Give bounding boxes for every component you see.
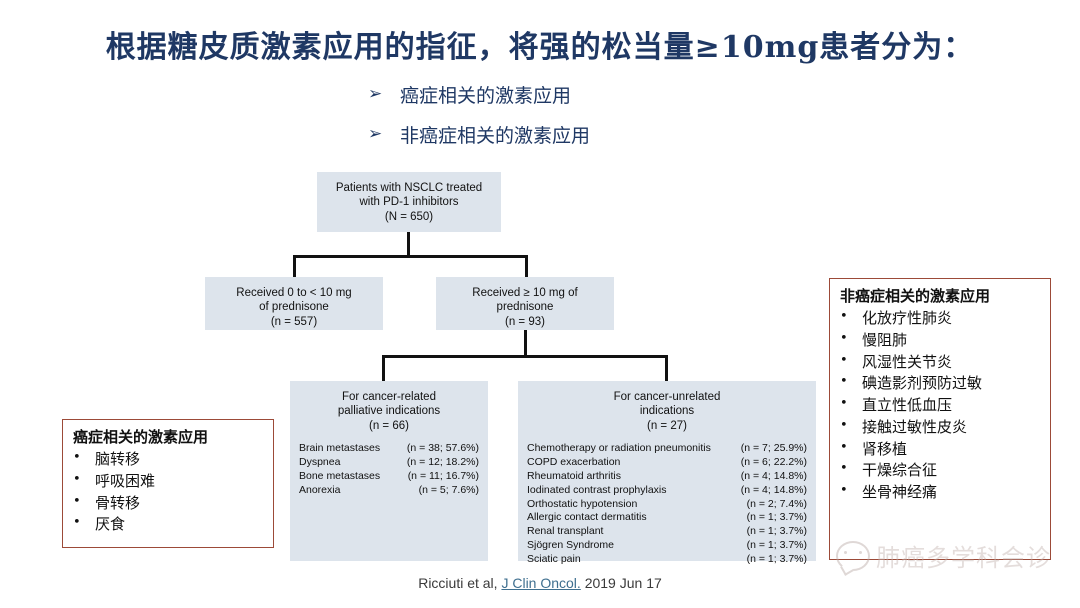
callout-cancer-related-heading: 癌症相关的激素应用 [73, 426, 263, 447]
indication-row: Iodinated contrast prophylaxis (n = 4; 1… [527, 484, 807, 498]
indication-row: Anorexia (n = 5; 7.6%) [299, 484, 479, 498]
indication-row: Chemotherapy or radiation pneumonitis (n… [527, 442, 807, 456]
list-item: •干燥综合征 [840, 460, 1040, 482]
list-item-label: 化放疗性肺炎 [862, 308, 952, 330]
bullet-dot-icon: • [73, 449, 95, 468]
list-item-label: 碘造影剂预防过敏 [862, 373, 982, 395]
bullet-dot-icon: • [840, 330, 862, 349]
list-item-label: 慢阻肺 [862, 330, 907, 352]
list-item: •风湿性关节炎 [840, 352, 1040, 374]
citation-authors: Ricciuti et al, [418, 575, 501, 591]
cancer-unrelated-indication-rows: Chemotherapy or radiation pneumonitis (n… [518, 442, 816, 567]
node-line: indications [518, 404, 816, 418]
indication-value: (n = 7; 25.9%) [741, 442, 807, 456]
indication-row: Orthostatic hypotension (n = 2; 7.4%) [527, 498, 807, 512]
indication-value: (n = 12; 18.2%) [407, 456, 479, 470]
flowchart-node-root-text: Patients with NSCLC treated with PD-1 in… [317, 172, 501, 224]
indication-label: Allergic contact dermatitis [527, 511, 655, 525]
list-item: •肾移植 [840, 439, 1040, 461]
list-item: •骨转移 [73, 493, 263, 515]
node-line: For cancer-related [290, 390, 488, 404]
flowchart-node-cancer-unrelated: For cancer-unrelated indications (n = 27… [518, 381, 816, 561]
indication-value: (n = 4; 14.8%) [741, 484, 807, 498]
flowchart-node-low-dose: Received 0 to < 10 mg of prednisone (n =… [205, 277, 383, 330]
bullet-dot-icon: • [840, 417, 862, 436]
indication-row: Dyspnea (n = 12; 18.2%) [299, 456, 479, 470]
list-item-label: 骨转移 [95, 493, 140, 515]
connector-root-down [407, 232, 410, 257]
connector-level3-bus [382, 355, 668, 358]
bullet-dot-icon: • [840, 460, 862, 479]
indication-label: Iodinated contrast prophylaxis [527, 484, 675, 498]
node-line: (n = 93) [436, 315, 614, 329]
indication-row: Rheumatoid arthritis (n = 4; 14.8%) [527, 470, 807, 484]
list-item-label: 干燥综合征 [862, 460, 937, 482]
indication-row: Sciatic pain (n = 1; 3.7%) [527, 553, 807, 567]
arrow-bullet-icon: ➢ [368, 126, 396, 143]
flowchart-node-high-dose-text: Received ≥ 10 mg of prednisone (n = 93) [436, 277, 614, 329]
connector-level2-right-down [525, 255, 528, 277]
node-line: (n = 557) [205, 315, 383, 329]
flowchart-node-cancer-related: For cancer-related palliative indication… [290, 381, 488, 561]
list-item: •坐骨神经痛 [840, 482, 1040, 504]
indication-value: (n = 4; 14.8%) [741, 470, 807, 484]
bullet-dot-icon: • [840, 482, 862, 501]
list-item-label: 厌食 [95, 514, 125, 536]
callout-cancer-related: 癌症相关的激素应用 •脑转移 •呼吸困难 •骨转移 •厌食 [62, 419, 274, 548]
indication-value: (n = 2; 7.4%) [747, 498, 807, 512]
indication-label: Chemotherapy or radiation pneumonitis [527, 442, 719, 456]
connector-high-dose-down [524, 330, 527, 357]
indication-row: Brain metastases (n = 38; 57.6%) [299, 442, 479, 456]
indication-row: Allergic contact dermatitis (n = 1; 3.7%… [527, 511, 807, 525]
indication-value: (n = 1; 3.7%) [747, 553, 807, 567]
page-title: 根据糖皮质激素应用的指征，将强的松当量≥10mg患者分为： [0, 22, 1080, 66]
node-line: Received 0 to < 10 mg [205, 286, 383, 300]
indication-label: Dyspnea [299, 456, 348, 470]
indication-row: Sjögren Syndrome (n = 1; 3.7%) [527, 539, 807, 553]
bubble-eyes [844, 551, 862, 554]
callout-non-cancer-related: 非癌症相关的激素应用 •化放疗性肺炎 •慢阻肺 •风湿性关节炎 •碘造影剂预防过… [829, 278, 1051, 560]
list-item: •接触过敏性皮炎 [840, 417, 1040, 439]
list-item-label: 坐骨神经痛 [862, 482, 937, 504]
list-item-label: 接触过敏性皮炎 [862, 417, 967, 439]
indication-label: Sciatic pain [527, 553, 589, 567]
node-line: (n = 27) [518, 419, 816, 433]
list-item-label: 风湿性关节炎 [862, 352, 952, 374]
indication-label: Sjögren Syndrome [527, 539, 622, 553]
indication-value: (n = 1; 3.7%) [747, 539, 807, 553]
watermark-text: 肺癌多学科会诊 [876, 538, 1051, 573]
connector-level3-left-down [382, 355, 385, 381]
list-item: •慢阻肺 [840, 330, 1040, 352]
node-line: prednisone [436, 300, 614, 314]
watermark: 肺癌多学科会诊 [836, 538, 1051, 573]
bullet-dot-icon: • [73, 471, 95, 490]
callout-cancer-related-list: •脑转移 •呼吸困难 •骨转移 •厌食 [73, 449, 263, 536]
node-line: (N = 650) [317, 210, 501, 224]
bullet-dot-icon: • [840, 373, 862, 392]
node-line: Received ≥ 10 mg of [436, 286, 614, 300]
node-line: (n = 66) [290, 419, 488, 433]
connector-level3-right-down [665, 355, 668, 381]
node-line: of prednisone [205, 300, 383, 314]
citation-date: 2019 Jun 17 [581, 575, 662, 591]
list-item: •碘造影剂预防过敏 [840, 373, 1040, 395]
indication-label: Rheumatoid arthritis [527, 470, 629, 484]
node-line: Patients with NSCLC treated [317, 181, 501, 195]
list-item-label: 直立性低血压 [862, 395, 952, 417]
speech-bubble-icon [836, 541, 870, 571]
node-line: For cancer-unrelated [518, 390, 816, 404]
bullet-dot-icon: • [840, 395, 862, 414]
indication-label: Orthostatic hypotension [527, 498, 645, 512]
callout-non-cancer-related-heading: 非癌症相关的激素应用 [840, 285, 1040, 306]
indication-row: Renal transplant (n = 1; 3.7%) [527, 525, 807, 539]
flowchart-node-low-dose-text: Received 0 to < 10 mg of prednisone (n =… [205, 277, 383, 329]
indication-row: Bone metastases (n = 11; 16.7%) [299, 470, 479, 484]
citation: Ricciuti et al, J Clin Oncol. 2019 Jun 1… [0, 575, 1080, 591]
indication-label: COPD exacerbation [527, 456, 628, 470]
cancer-related-indication-rows: Brain metastases (n = 38; 57.6%) Dyspnea… [290, 442, 488, 497]
list-item: •脑转移 [73, 449, 263, 471]
bullet-dot-icon: • [73, 514, 95, 533]
indication-value: (n = 38; 57.6%) [407, 442, 479, 456]
bullet-dot-icon: • [840, 439, 862, 458]
top-bullet-item-1: ➢ 癌症相关的激素应用 [368, 78, 590, 110]
flowchart-node-cancer-related-text: For cancer-related palliative indication… [290, 381, 488, 433]
slide-canvas: 根据糖皮质激素应用的指征，将强的松当量≥10mg患者分为： ➢ 癌症相关的激素应… [0, 0, 1080, 608]
indication-value: (n = 11; 16.7%) [408, 470, 479, 484]
top-bullet-item-2: ➢ 非癌症相关的激素应用 [368, 118, 590, 150]
top-bullet-label-1: 癌症相关的激素应用 [396, 81, 571, 108]
indication-row: COPD exacerbation (n = 6; 22.2%) [527, 456, 807, 470]
indication-value: (n = 5; 7.6%) [419, 484, 479, 498]
indication-value: (n = 6; 22.2%) [741, 456, 807, 470]
top-bullet-list: ➢ 癌症相关的激素应用 ➢ 非癌症相关的激素应用 [368, 78, 590, 158]
flowchart-node-cancer-unrelated-text: For cancer-unrelated indications (n = 27… [518, 381, 816, 433]
list-item: •化放疗性肺炎 [840, 308, 1040, 330]
list-item: •直立性低血压 [840, 395, 1040, 417]
indication-label: Brain metastases [299, 442, 388, 456]
indication-value: (n = 1; 3.7%) [747, 511, 807, 525]
node-line: with PD-1 inhibitors [317, 195, 501, 209]
indication-label: Renal transplant [527, 525, 611, 539]
list-item: •厌食 [73, 514, 263, 536]
node-line: palliative indications [290, 404, 488, 418]
bullet-dot-icon: • [73, 493, 95, 512]
list-item-label: 脑转移 [95, 449, 140, 471]
bullet-dot-icon: • [840, 352, 862, 371]
flowchart-node-root: Patients with NSCLC treated with PD-1 in… [317, 172, 501, 232]
indication-label: Bone metastases [299, 470, 388, 484]
list-item: •呼吸困难 [73, 471, 263, 493]
arrow-bullet-icon: ➢ [368, 86, 396, 103]
citation-journal-link[interactable]: J Clin Oncol. [501, 575, 580, 591]
callout-non-cancer-related-list: •化放疗性肺炎 •慢阻肺 •风湿性关节炎 •碘造影剂预防过敏 •直立性低血压 •… [840, 308, 1040, 504]
flowchart-node-high-dose: Received ≥ 10 mg of prednisone (n = 93) [436, 277, 614, 330]
indication-value: (n = 1; 3.7%) [747, 525, 807, 539]
indication-label: Anorexia [299, 484, 348, 498]
top-bullet-label-2: 非癌症相关的激素应用 [396, 121, 590, 148]
list-item-label: 肾移植 [862, 439, 907, 461]
list-item-label: 呼吸困难 [95, 471, 155, 493]
connector-level2-bus [293, 255, 528, 258]
bullet-dot-icon: • [840, 308, 862, 327]
connector-level2-left-down [293, 255, 296, 277]
